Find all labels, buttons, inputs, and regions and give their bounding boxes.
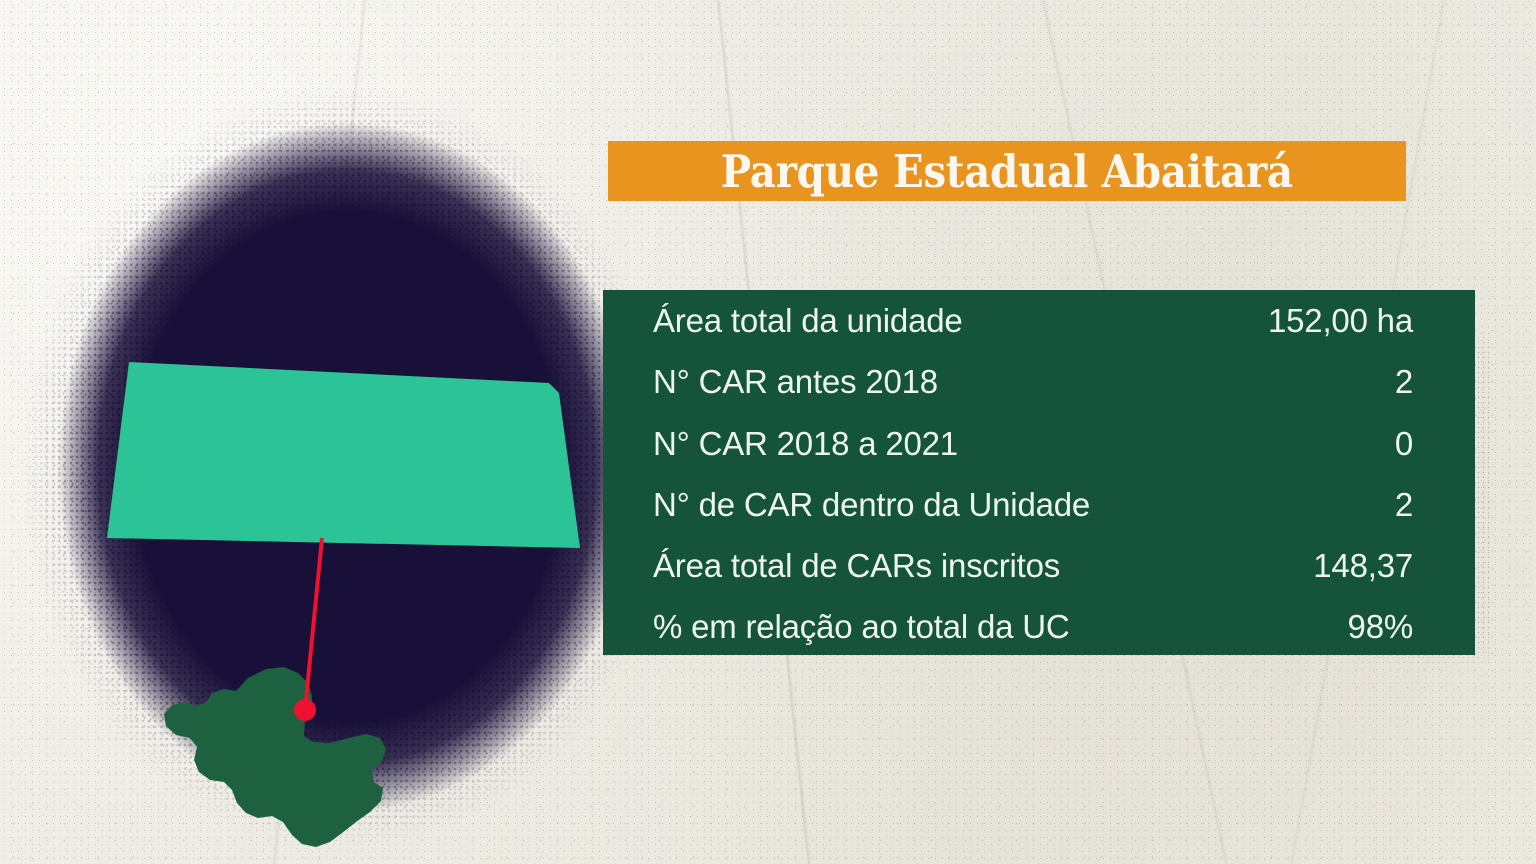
row-value: 148,37	[1313, 549, 1413, 584]
row-value: 2	[1395, 488, 1413, 523]
table-row: N° CAR 2018 a 2021 0	[653, 427, 1413, 462]
state-outline-parana	[164, 667, 386, 847]
row-value: 0	[1395, 427, 1413, 462]
table-row: N° CAR antes 2018 2	[653, 365, 1413, 400]
map-vector-layer	[0, 70, 700, 864]
unit-boundary-polygon	[107, 362, 580, 548]
row-value: 152,00 ha	[1268, 304, 1413, 339]
table-row: % em relação ao total da UC 98%	[653, 610, 1413, 645]
table-row: Área total da unidade 152,00 ha	[653, 304, 1413, 339]
page-title: Parque Estadual Abaitará	[721, 145, 1293, 198]
statistics-panel: Área total da unidade 152,00 ha N° CAR a…	[603, 290, 1475, 655]
row-label: N° de CAR dentro da Unidade	[653, 488, 1090, 523]
leader-line	[305, 538, 322, 710]
table-row: N° de CAR dentro da Unidade 2	[653, 488, 1413, 523]
row-value: 98%	[1348, 610, 1413, 645]
row-label: Área total da unidade	[653, 304, 963, 339]
row-label: Área total de CARs inscritos	[653, 549, 1060, 584]
map-illustration	[0, 70, 700, 864]
row-label: N° CAR 2018 a 2021	[653, 427, 958, 462]
row-label: % em relação ao total da UC	[653, 610, 1069, 645]
location-marker-dot	[294, 699, 316, 721]
row-value: 2	[1395, 365, 1413, 400]
infographic-slide: Parque Estadual Abaitará Área total da u…	[0, 0, 1536, 864]
table-row: Área total de CARs inscritos 148,37	[653, 549, 1413, 584]
row-label: N° CAR antes 2018	[653, 365, 938, 400]
title-banner: Parque Estadual Abaitará	[608, 141, 1406, 201]
